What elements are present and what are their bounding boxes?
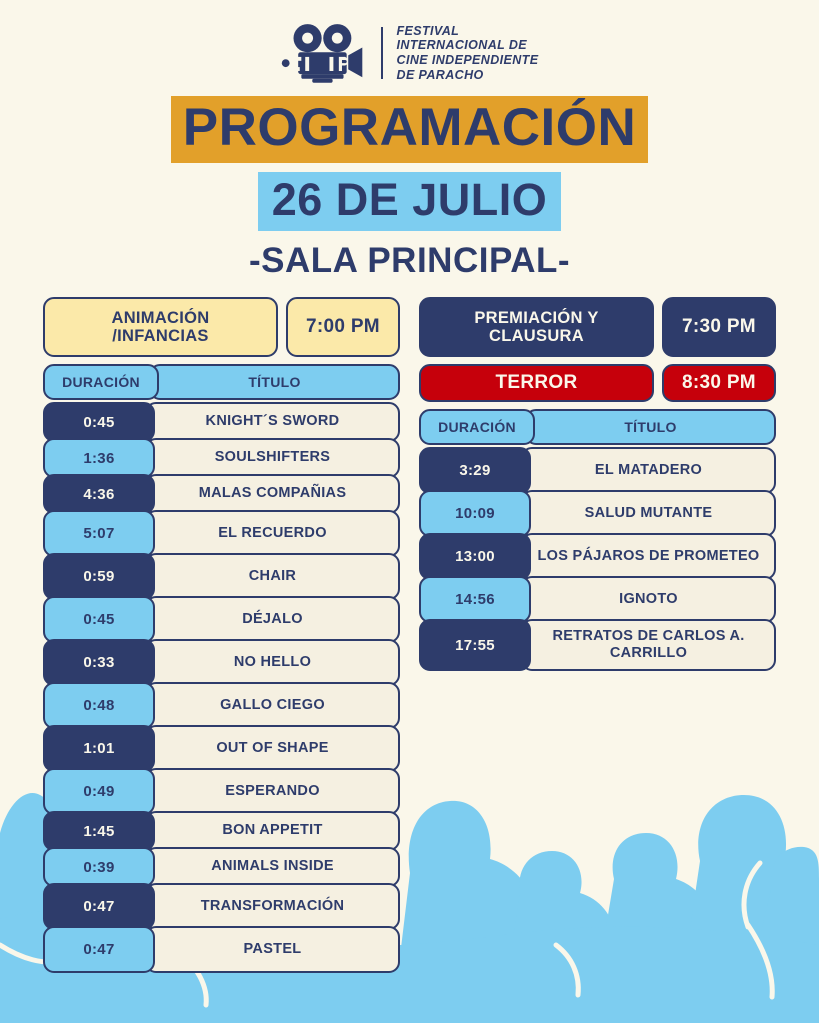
- page-title: PROGRAMACIÓN 26 DE JULIO -SALA PRINCIPAL…: [0, 96, 819, 278]
- title-programacion: PROGRAMACIÓN: [171, 96, 649, 163]
- festival-name-line-3: CINE INDEPENDIENTE: [397, 53, 539, 68]
- table-row[interactable]: 0:45DÉJALO: [43, 596, 400, 643]
- header-titulo-left: TÍTULO: [149, 364, 400, 400]
- table-row[interactable]: 0:39ANIMALS INSIDE: [43, 847, 400, 887]
- section-time-premiacion: 7:30 PM: [662, 297, 776, 357]
- table-row[interactable]: 0:48GALLO CIEGO: [43, 682, 400, 729]
- section-time-terror: 8:30 PM: [662, 364, 776, 402]
- row-duration: 4:36: [43, 474, 155, 514]
- row-title: EL RECUERDO: [145, 510, 400, 557]
- row-title: BON APPETIT: [145, 811, 400, 851]
- section-name-line-2: /INFANCIAS: [112, 327, 209, 345]
- row-duration: 10:09: [419, 490, 531, 537]
- header-titulo-right: TÍTULO: [525, 409, 776, 445]
- section-name-premiacion: PREMIACIÓN Y CLAUSURA: [419, 297, 654, 357]
- row-duration: 1:36: [43, 438, 155, 478]
- row-duration: 0:47: [43, 883, 155, 930]
- table-row[interactable]: 0:59CHAIR: [43, 553, 400, 600]
- table-rows-right: 3:29EL MATADERO 10:09SALUD MUTANTE 13:00…: [419, 447, 776, 671]
- table-row[interactable]: 10:09SALUD MUTANTE: [419, 490, 776, 537]
- row-duration: 14:56: [419, 576, 531, 623]
- section-name-terror: TERROR: [419, 364, 654, 402]
- section-header-premiacion: PREMIACIÓN Y CLAUSURA 7:30 PM: [419, 297, 776, 357]
- header-duracion-left: DURACIÓN: [43, 364, 159, 400]
- row-duration: 3:29: [419, 447, 531, 494]
- row-duration: 0:33: [43, 639, 155, 686]
- row-title: RETRATOS DE CARLOS A. CARRILLO: [521, 619, 776, 671]
- festival-name-line-1: FESTIVAL: [397, 24, 539, 39]
- film-camera-icon: [281, 22, 367, 84]
- schedule-column-right: PREMIACIÓN Y CLAUSURA 7:30 PM TERROR 8:3…: [419, 297, 776, 671]
- row-duration: 0:47: [43, 926, 155, 973]
- section-time-animacion: 7:00 PM: [286, 297, 400, 357]
- festival-name-line-2: INTERNACIONAL DE: [397, 38, 539, 53]
- row-duration: 5:07: [43, 510, 155, 557]
- section-header-terror: TERROR 8:30 PM: [419, 364, 776, 402]
- row-duration: 0:45: [43, 402, 155, 442]
- header-duracion-right: DURACIÓN: [419, 409, 535, 445]
- title-venue: -SALA PRINCIPAL-: [249, 243, 570, 278]
- table-row[interactable]: 0:49ESPERANDO: [43, 768, 400, 815]
- table-row[interactable]: 4:36MALAS COMPAÑIAS: [43, 474, 400, 514]
- row-title: PASTEL: [145, 926, 400, 973]
- row-title: NO HELLO: [145, 639, 400, 686]
- table-row[interactable]: 14:56IGNOTO: [419, 576, 776, 623]
- section-name-line-2: CLAUSURA: [489, 327, 584, 345]
- title-date: 26 DE JULIO: [258, 172, 562, 231]
- schedule-column-left: ANIMACIÓN /INFANCIAS 7:00 PM DURACIÓN TÍ…: [43, 297, 400, 973]
- row-duration: 13:00: [419, 533, 531, 580]
- festival-name-line-4: DE PARACHO: [397, 68, 539, 83]
- section-name-line-1: PREMIACIÓN Y: [474, 309, 598, 327]
- row-duration: 1:45: [43, 811, 155, 851]
- section-header-animacion: ANIMACIÓN /INFANCIAS 7:00 PM: [43, 297, 400, 357]
- row-duration: 0:59: [43, 553, 155, 600]
- row-title: SALUD MUTANTE: [521, 490, 776, 537]
- schedule-tables: ANIMACIÓN /INFANCIAS 7:00 PM DURACIÓN TÍ…: [0, 297, 819, 973]
- row-title: ANIMALS INSIDE: [145, 847, 400, 887]
- row-title: SOULSHIFTERS: [145, 438, 400, 478]
- table-row[interactable]: 13:00LOS PÁJAROS DE PROMETEO: [419, 533, 776, 580]
- row-duration: 0:39: [43, 847, 155, 887]
- table-row[interactable]: 1:36SOULSHIFTERS: [43, 438, 400, 478]
- table-row[interactable]: 5:07EL RECUERDO: [43, 510, 400, 557]
- row-duration: 1:01: [43, 725, 155, 772]
- table-row[interactable]: 1:45BON APPETIT: [43, 811, 400, 851]
- table-rows-left: 0:45KNIGHT´S SWORD 1:36SOULSHIFTERS 4:36…: [43, 402, 400, 973]
- row-title: LOS PÁJAROS DE PROMETEO: [521, 533, 776, 580]
- logo-divider: [381, 27, 383, 79]
- festival-logo: FESTIVAL INTERNACIONAL DE CINE INDEPENDI…: [0, 22, 819, 84]
- row-title: ESPERANDO: [145, 768, 400, 815]
- row-title: DÉJALO: [145, 596, 400, 643]
- row-title: IGNOTO: [521, 576, 776, 623]
- row-title: GALLO CIEGO: [145, 682, 400, 729]
- row-title: CHAIR: [145, 553, 400, 600]
- row-duration: 0:49: [43, 768, 155, 815]
- row-duration: 0:45: [43, 596, 155, 643]
- row-title: OUT OF SHAPE: [145, 725, 400, 772]
- table-header-left: DURACIÓN TÍTULO: [43, 364, 400, 400]
- table-row[interactable]: 0:47PASTEL: [43, 926, 400, 973]
- table-row[interactable]: 0:33NO HELLO: [43, 639, 400, 686]
- table-row[interactable]: 1:01OUT OF SHAPE: [43, 725, 400, 772]
- row-duration: 0:48: [43, 682, 155, 729]
- poster-canvas: FESTIVAL INTERNACIONAL DE CINE INDEPENDI…: [0, 0, 819, 1023]
- row-title: EL MATADERO: [521, 447, 776, 494]
- table-row[interactable]: 3:29EL MATADERO: [419, 447, 776, 494]
- poster-header: FESTIVAL INTERNACIONAL DE CINE INDEPENDI…: [0, 0, 819, 278]
- section-name-animacion: ANIMACIÓN /INFANCIAS: [43, 297, 278, 357]
- table-row[interactable]: 0:45KNIGHT´S SWORD: [43, 402, 400, 442]
- row-title: KNIGHT´S SWORD: [145, 402, 400, 442]
- section-name-line-1: ANIMACIÓN: [111, 309, 209, 327]
- table-header-right: DURACIÓN TÍTULO: [419, 409, 776, 445]
- row-title: TRANSFORMACIÓN: [145, 883, 400, 930]
- festival-name: FESTIVAL INTERNACIONAL DE CINE INDEPENDI…: [397, 24, 539, 83]
- table-row[interactable]: 17:55RETRATOS DE CARLOS A. CARRILLO: [419, 619, 776, 671]
- row-duration: 17:55: [419, 619, 531, 671]
- table-row[interactable]: 0:47TRANSFORMACIÓN: [43, 883, 400, 930]
- row-title: MALAS COMPAÑIAS: [145, 474, 400, 514]
